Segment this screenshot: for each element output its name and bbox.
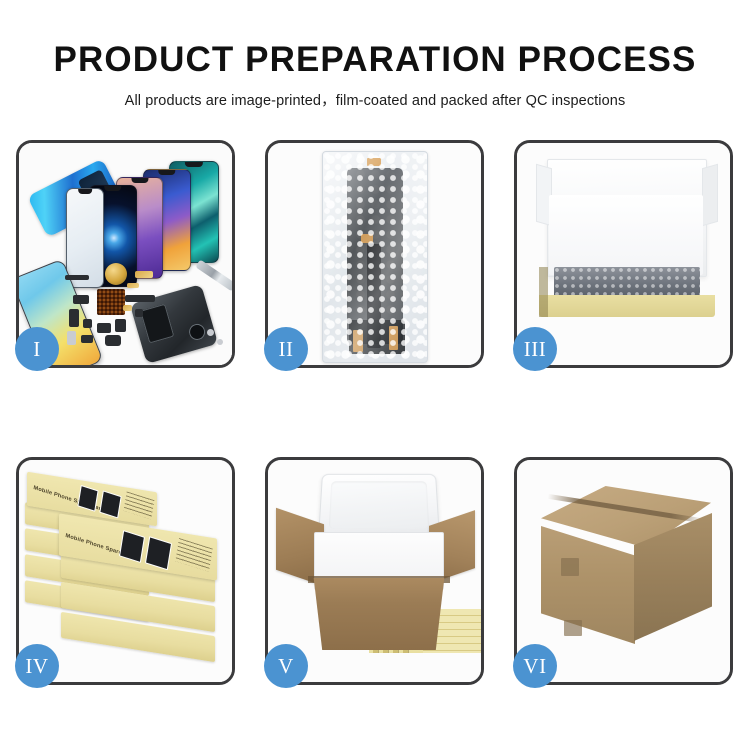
speaker-module-icon (105, 263, 127, 285)
chip-grid-part (97, 289, 125, 315)
page-subtitle: All products are image-printed，film-coat… (0, 89, 750, 110)
step-badge-1: I (15, 327, 59, 371)
box-art-screen-3 (119, 530, 145, 563)
step-badge-2: II (264, 327, 308, 371)
header: PRODUCT PREPARATION PROCESS All products… (0, 40, 750, 110)
step-badge-4: IV (15, 644, 59, 688)
part-flex-1 (73, 295, 89, 304)
box-art-screen-2 (99, 490, 121, 518)
part-strip-1 (65, 275, 89, 280)
part-flex-3 (125, 295, 155, 302)
box-spec-text-1 (124, 491, 155, 519)
part-small-1 (83, 319, 92, 328)
plastic-gloss (323, 152, 427, 362)
part-screw-1 (207, 329, 214, 336)
part-small-5 (135, 309, 143, 317)
box-art-screen-1 (77, 485, 98, 512)
kraft-box-left-edge (539, 267, 548, 317)
part-screw-2 (217, 339, 223, 345)
part-small-3 (97, 323, 111, 333)
part-gold-2 (127, 283, 139, 288)
process-steps-grid: I Mobile phone screens and spare parts l… (16, 140, 734, 685)
step-badge-5: V (264, 644, 308, 688)
panel-step-2: II Phone screen assembly sealed in bubbl… (265, 140, 484, 368)
part-gold-3 (123, 305, 132, 311)
box-spec-text-2 (175, 538, 212, 572)
foam-cooler-lid (318, 474, 440, 541)
panel-step-3: III Open kraft box with white foam lid a… (514, 140, 733, 368)
page-title: PRODUCT PREPARATION PROCESS (0, 40, 750, 80)
carton-tape-lower (564, 620, 582, 636)
box-art-screen-4 (145, 536, 172, 570)
outer-carton-body (308, 578, 450, 650)
foam-sheet (549, 195, 703, 275)
carton-tape-upper (561, 558, 579, 576)
product-preparation-infographic: PRODUCT PREPARATION PROCESS All products… (0, 0, 750, 750)
glass-protector (66, 188, 104, 288)
panel-step-6: VI Sealed brown corrugated shipping cart… (514, 457, 733, 685)
part-small-2 (81, 335, 93, 343)
box-stack: Mobile Phone Spare Parts Mobile Phone Sp… (25, 476, 227, 674)
panel-step-1: I Mobile phone screens and spare parts l… (16, 140, 235, 368)
part-flex-2 (69, 309, 79, 327)
kraft-box-front-wall (539, 295, 715, 317)
panel-step-4: Mobile Phone Spare Parts Mobile Phone Sp… (16, 457, 235, 685)
part-camera (105, 335, 121, 346)
step-badge-6: VI (513, 644, 557, 688)
part-small-4 (115, 319, 126, 332)
bubble-wrap-bag (322, 151, 428, 363)
panel-step-5: V Open shipping carton with foam cooler … (265, 457, 484, 685)
carton-front-face (541, 526, 635, 644)
step-badge-3: III (513, 327, 557, 371)
part-gold-1 (135, 271, 153, 278)
part-sim-tray (67, 331, 76, 345)
